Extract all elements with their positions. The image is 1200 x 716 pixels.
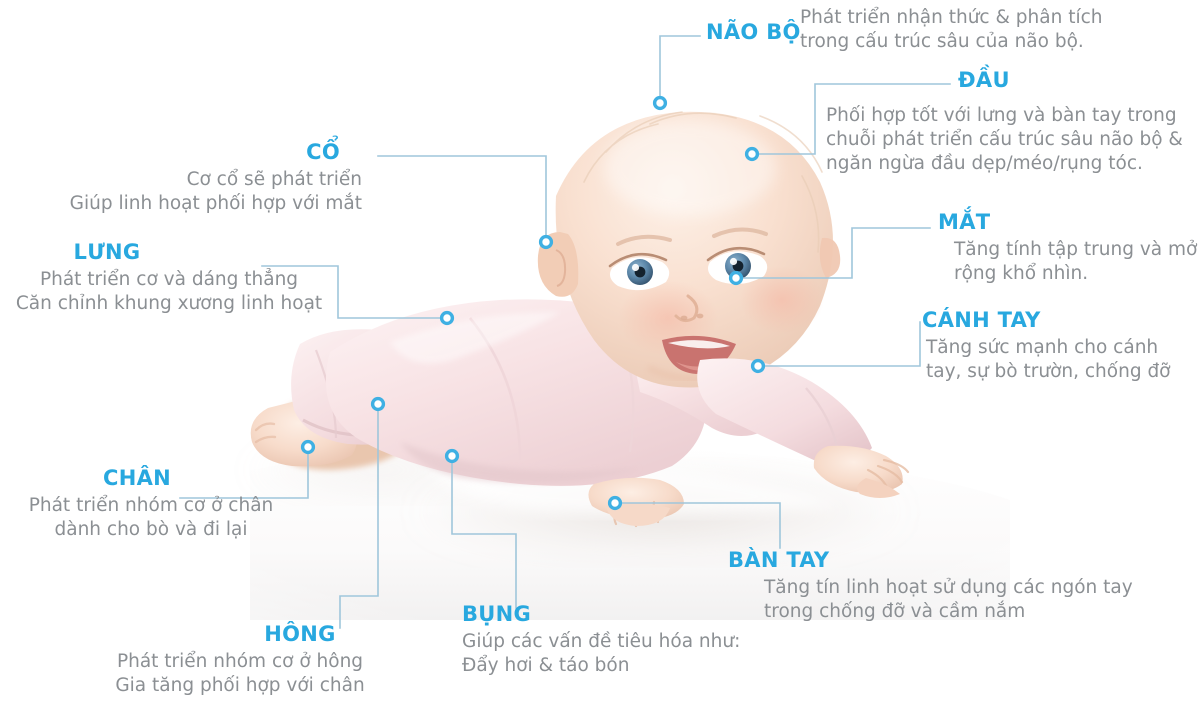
dot-bung — [447, 451, 458, 462]
callout-body-lung: Phát triển cơ và dáng thẳng Căn chỉnh kh… — [0, 268, 338, 316]
callout-heading-hong: HÔNG — [192, 624, 408, 645]
callout-co: CỔ Cơ cổ sẽ phát triển Giúp linh hoạt ph… — [0, 142, 362, 216]
callout-heading-lung: LƯNG — [0, 242, 214, 263]
callout-chan: CHÂN Phát triển nhóm cơ ở chân dành cho … — [0, 468, 302, 542]
baby-lower-hand — [588, 478, 684, 526]
connector-mat — [736, 228, 930, 278]
callout-heading-mat: MẮT — [938, 212, 1198, 233]
callout-heading-chan: CHÂN — [0, 468, 274, 489]
callout-body-wrap-nao-bo: Phát triển nhận thức & phân tích trong c… — [800, 6, 1200, 54]
callout-mat: MẮT Tăng tính tập trung và mở rộng khổ n… — [938, 212, 1198, 286]
anchor-dots — [303, 98, 764, 509]
callout-body-co: Cơ cổ sẽ phát triển Giúp linh hoạt phối … — [0, 168, 362, 216]
callout-heading-bung: BỤNG — [462, 604, 792, 625]
baby-eye-right — [708, 248, 767, 284]
callout-body-mat: Tăng tính tập trung và mở rộng khổ nhìn. — [954, 238, 1198, 286]
dot-co — [541, 237, 552, 248]
callout-dau: ĐẦU — [958, 70, 1198, 96]
dot-lung — [442, 313, 453, 324]
infographic-canvas: NÃO BỘ Phát triển nhận thức & phân tích … — [0, 0, 1200, 716]
dot-nao-bo — [655, 98, 666, 109]
callout-body-dau: Phối hợp tốt với lưng và bàn tay trong c… — [826, 104, 1198, 176]
baby-torso — [326, 299, 707, 485]
dot-ban-tay — [610, 498, 621, 509]
baby-near-arm — [697, 358, 908, 498]
callout-heading-ban-tay: BÀN TAY — [728, 550, 1188, 571]
callout-hong: HÔNG Phát triển nhóm cơ ở hông Gia tăng … — [72, 624, 408, 698]
dot-hong — [373, 399, 384, 410]
callout-body-hong: Phát triển nhóm cơ ở hông Gia tăng phối … — [72, 650, 408, 698]
dot-canh-tay — [753, 361, 764, 372]
baby-legs — [251, 329, 445, 470]
connector-canh-tay — [758, 322, 920, 366]
callout-body-bung: Giúp các vấn đề tiêu hóa như: Đẩy hơi & … — [462, 630, 792, 678]
connector-bung — [452, 456, 516, 608]
callout-ban-tay: BÀN TAY Tăng tín linh hoạt sử dụng các n… — [728, 550, 1188, 624]
callout-heading-co: CỔ — [0, 142, 340, 163]
connector-co — [378, 156, 546, 242]
callout-heading-dau: ĐẦU — [958, 70, 1198, 91]
baby-eye-left — [610, 254, 669, 290]
dot-chan — [303, 442, 314, 453]
callout-heading-canh-tay: CÁNH TAY — [922, 310, 1192, 331]
callout-body-canh-tay: Tăng sức mạnh cho cánh tay, sự bò trườn,… — [926, 336, 1192, 384]
baby-mouth — [662, 336, 736, 374]
dot-dau — [747, 149, 758, 160]
baby-head — [538, 112, 840, 388]
callout-lung: LƯNG Phát triển cơ và dáng thẳng Căn chỉ… — [0, 242, 338, 316]
callout-bung: BỤNG Giúp các vấn đề tiêu hóa như: Đẩy h… — [462, 604, 792, 678]
connector-ban-tay — [615, 503, 780, 548]
callout-canh-tay: CÁNH TAY Tăng sức mạnh cho cánh tay, sự … — [922, 310, 1192, 384]
callout-body-ban-tay: Tăng tín linh hoạt sử dụng các ngón tay … — [764, 576, 1188, 624]
callout-body-chan: Phát triển nhóm cơ ở chân dành cho bò và… — [0, 494, 302, 542]
callout-body-nao-bo: Phát triển nhận thức & phân tích trong c… — [800, 6, 1200, 54]
callout-body-wrap-dau: Phối hợp tốt với lưng và bàn tay trong c… — [826, 104, 1198, 176]
connector-hong — [340, 404, 378, 628]
connector-nao-bo — [660, 36, 700, 103]
dot-mat — [731, 273, 742, 284]
baby-far-arm — [632, 350, 770, 436]
